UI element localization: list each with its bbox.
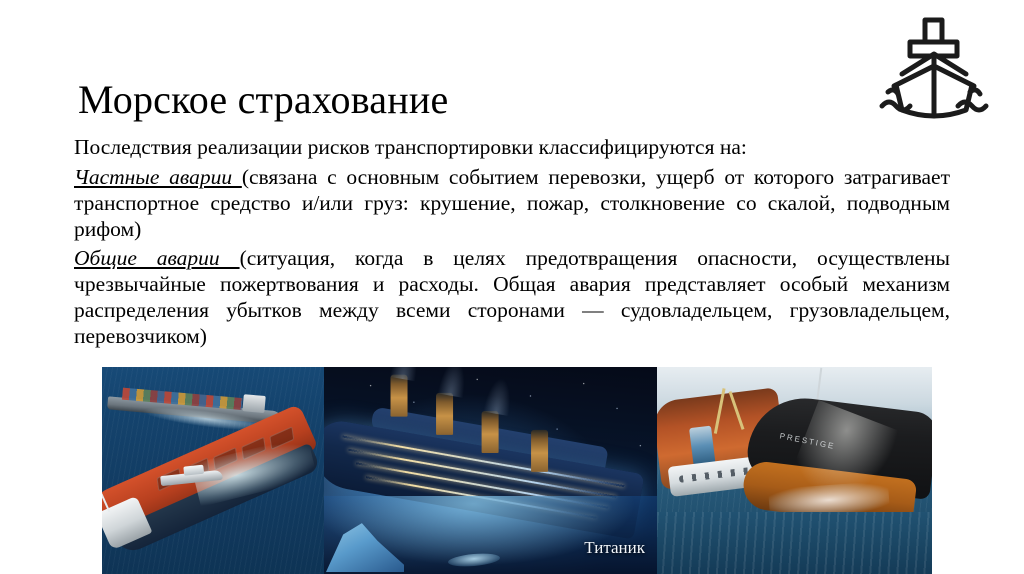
stern-funnel	[689, 426, 715, 466]
page-title: Морское страхование	[78, 75, 838, 125]
definition-general-average: Общие аварии (ситуация, когда в целях пр…	[74, 245, 950, 349]
ship-front-line-icon	[866, 12, 1002, 130]
foreground-waves	[657, 512, 932, 574]
photo-strip: Титаник PRESTIGE	[102, 367, 932, 574]
funnel	[436, 393, 453, 435]
definition-particular-average: Частные аварии (связана с основным событ…	[74, 164, 950, 242]
term-particular-average: Частные аварии	[74, 165, 242, 189]
funnel	[531, 430, 548, 472]
funnel-smoke	[483, 376, 515, 416]
funnel	[482, 411, 499, 453]
slide-canvas: Морское страхование Последствия реализац…	[0, 0, 1024, 574]
photo-titanic-sinking: Титаник	[324, 367, 657, 574]
term-general-average: Общие аварии	[74, 246, 240, 270]
body-text-block: Последствия реализации рисков транспорти…	[74, 134, 950, 352]
photo-caption-titanic: Титаник	[584, 538, 645, 558]
photo-tanker-prestige: PRESTIGE	[657, 367, 932, 574]
lead-paragraph: Последствия реализации рисков транспорти…	[74, 134, 950, 160]
funnel	[391, 375, 408, 417]
funnel-smoke	[438, 367, 470, 398]
photo-capsized-bulk-carrier	[102, 367, 324, 574]
